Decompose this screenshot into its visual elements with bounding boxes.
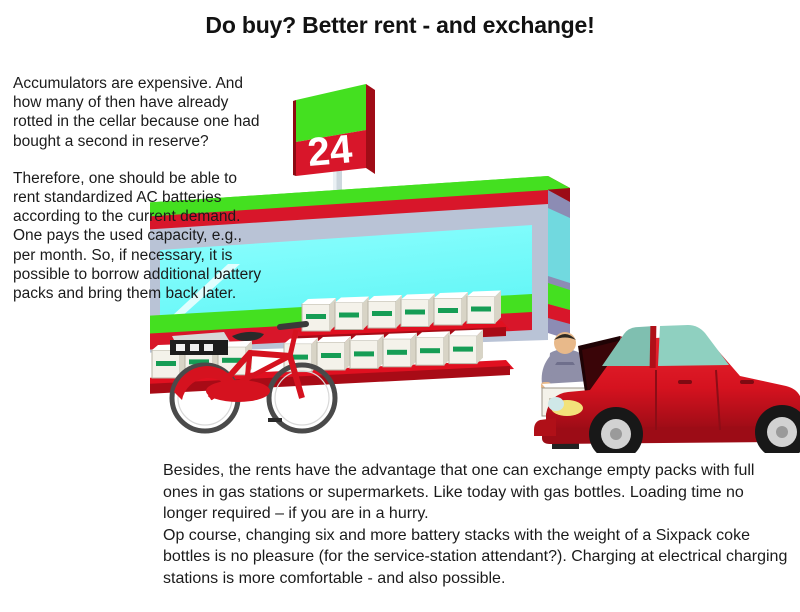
bottom-paragraph-2: Op course, changing six and more battery… (163, 525, 790, 590)
sign-24: 24 (293, 84, 375, 176)
bottom-text-block: Besides, the rents have the advantage th… (163, 460, 790, 589)
page-title: Do buy? Better rent - and exchange! (0, 12, 800, 39)
bottom-paragraph-1: Besides, the rents have the advantage th… (163, 460, 790, 525)
left-paragraph-1: Accumulators are expensive. And how many… (13, 74, 267, 151)
slide: Do buy? Better rent - and exchange! (0, 0, 800, 612)
sign-24-label: 24 (306, 127, 355, 175)
left-text-block: Accumulators are expensive. And how many… (13, 74, 267, 303)
left-paragraph-2: Therefore, one should be able to rent st… (13, 169, 267, 303)
